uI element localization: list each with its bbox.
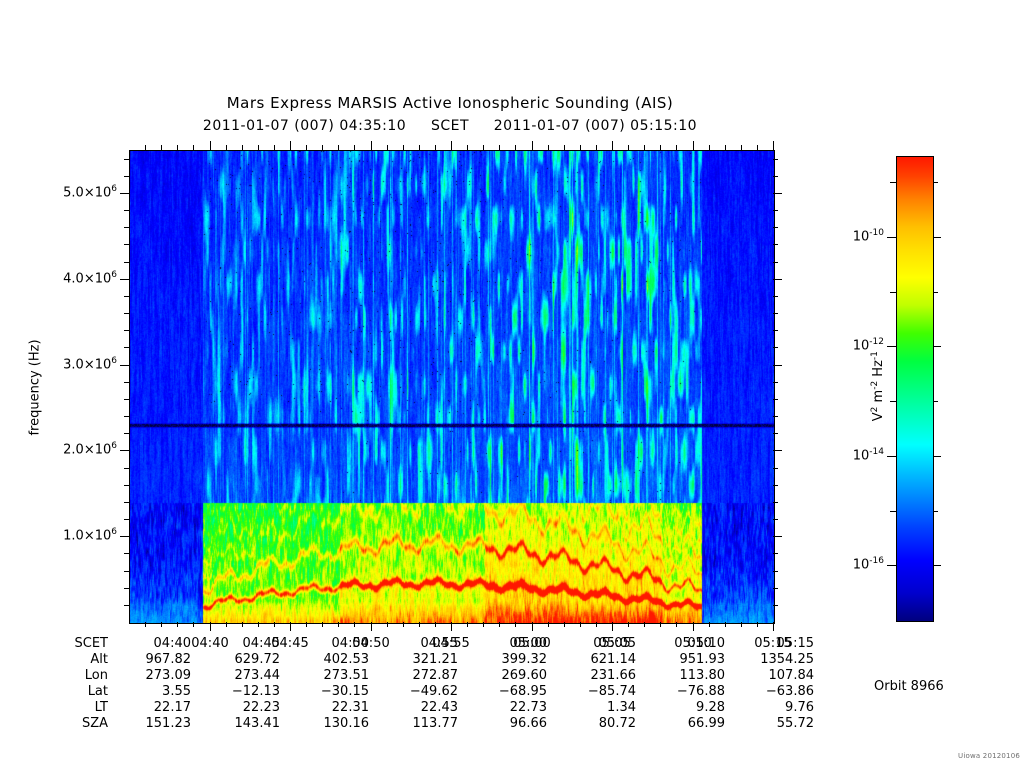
colorbar-major-tick (887, 456, 896, 457)
ephemeris-cell: 621.14 (557, 652, 646, 668)
orbit-label: Orbit 8966 (874, 679, 944, 694)
y-tick-label: 4.0×106 (7, 270, 117, 286)
y-tick-label: 5.0×106 (7, 184, 117, 200)
ephemeris-cell: 130.16 (290, 716, 379, 732)
y-major-tick (120, 365, 129, 366)
x-major-tick-top (693, 141, 694, 150)
ephemeris-cell: 80.72 (557, 716, 646, 732)
ephemeris-row-label: Alt (0, 652, 112, 668)
ephemeris-cell: 22.43 (379, 700, 468, 716)
colorbar-tick-label: 10-16 (794, 556, 884, 572)
y-major-tick (120, 279, 129, 280)
ephemeris-cell: −68.95 (468, 684, 557, 700)
ephemeris-cell: 04:45 (201, 636, 290, 652)
ephemeris-cell: 143.41 (201, 716, 290, 732)
y-major-tick (120, 193, 129, 194)
ephemeris-cell: −12.13 (201, 684, 290, 700)
ephemeris-row-label: Lat (0, 684, 112, 700)
ephemeris-cell: 04:50 (290, 636, 379, 652)
x-major-tick-top (290, 141, 291, 150)
ephemeris-row-label: SZA (0, 716, 112, 732)
ephemeris-cell: 05:05 (557, 636, 646, 652)
x-major-tick-top (773, 141, 774, 150)
ephemeris-cell: 231.66 (557, 668, 646, 684)
ephemeris-cell: 04:55 (379, 636, 468, 652)
ephemeris-cell: 321.21 (379, 652, 468, 668)
ephemeris-cell: 399.32 (468, 652, 557, 668)
y-axis-label: frequency (Hz) (28, 278, 43, 498)
x-major-tick-top (371, 141, 372, 150)
ephemeris-cell: 05:00 (468, 636, 557, 652)
page-title: Mars Express MARSIS Active Ionospheric S… (0, 94, 900, 112)
ephemeris-row: Lon273.09273.44273.51272.87269.60231.661… (0, 668, 824, 684)
ephemeris-row: Lat3.55−12.13−30.15−49.62−68.95−85.74−76… (0, 684, 824, 700)
ephemeris-cell: 107.84 (735, 668, 824, 684)
ephemeris-cell: 951.93 (646, 652, 735, 668)
ephemeris-cell: 269.60 (468, 668, 557, 684)
y-tick-label: 3.0×106 (7, 356, 117, 372)
y-major-tick (120, 536, 129, 537)
ephemeris-cell: 9.28 (646, 700, 735, 716)
ephemeris-cell: 1.34 (557, 700, 646, 716)
ephemeris-cell: −30.15 (290, 684, 379, 700)
x-major-tick-top (612, 141, 613, 150)
ephemeris-row: SZA151.23143.41130.16113.7796.6680.7266.… (0, 716, 824, 732)
colorbar-major-tick (887, 346, 896, 347)
y-major-tick (120, 450, 129, 451)
ephemeris-row: SCET04:4004:4504:5004:5505:0005:0505:100… (0, 636, 824, 652)
colorbar-gradient (897, 157, 933, 621)
colorbar[interactable] (896, 156, 934, 622)
colorbar-major-tick (887, 237, 896, 238)
watermark-label: Uiowa 20120106 (958, 752, 1020, 760)
spectrogram-image (130, 151, 774, 623)
ephemeris-row: LT22.1722.2322.3122.4322.731.349.289.76 (0, 700, 824, 716)
ephemeris-cell: 967.82 (112, 652, 201, 668)
ephemeris-cell: 113.77 (379, 716, 468, 732)
ephemeris-row-label: LT (0, 700, 112, 716)
ephemeris-cell: 04:40 (112, 636, 201, 652)
colorbar-major-tick (887, 565, 896, 566)
y-tick-label: 1.0×106 (7, 527, 117, 543)
ephemeris-cell: −63.86 (735, 684, 824, 700)
spectrogram-panel[interactable] (129, 150, 775, 624)
ephemeris-cell: 402.53 (290, 652, 379, 668)
colorbar-unit-label: V2 m-2 Hz-1 (870, 276, 886, 496)
ephemeris-row-label: SCET (0, 636, 112, 652)
ephemeris-cell: 05:10 (646, 636, 735, 652)
ephemeris-cell: 9.76 (735, 700, 824, 716)
ephemeris-row: Alt967.82629.72402.53321.21399.32621.149… (0, 652, 824, 668)
ephemeris-cell: 1354.25 (735, 652, 824, 668)
ephemeris-row-label: Lon (0, 668, 112, 684)
ephemeris-cell: 151.23 (112, 716, 201, 732)
ephemeris-cell: 3.55 (112, 684, 201, 700)
x-major-tick-top (532, 141, 533, 150)
ephemeris-table: SCET04:4004:4504:5004:5505:0005:0505:100… (0, 636, 824, 732)
ephemeris-cell: 273.09 (112, 668, 201, 684)
ephemeris-cell: 272.87 (379, 668, 468, 684)
ephemeris-cell: 22.73 (468, 700, 557, 716)
colorbar-tick-label: 10-10 (794, 228, 884, 244)
ephemeris-cell: −49.62 (379, 684, 468, 700)
page-subtitle: 2011-01-07 (007) 04:35:10 SCET 2011-01-0… (0, 118, 900, 134)
ephemeris-cell: 05:15 (735, 636, 824, 652)
ephemeris-cell: 22.17 (112, 700, 201, 716)
ephemeris-cell: 113.80 (646, 668, 735, 684)
ephemeris-cell: 629.72 (201, 652, 290, 668)
ephemeris-cell: 273.44 (201, 668, 290, 684)
x-major-tick-top (451, 141, 452, 150)
ephemeris-cell: 22.31 (290, 700, 379, 716)
y-tick-label: 2.0×106 (7, 441, 117, 457)
ephemeris-cell: 96.66 (468, 716, 557, 732)
ephemeris-cell: 66.99 (646, 716, 735, 732)
x-major-tick-top (210, 141, 211, 150)
ephemeris-cell: 22.23 (201, 700, 290, 716)
ephemeris-cell: −85.74 (557, 684, 646, 700)
ephemeris-cell: 273.51 (290, 668, 379, 684)
ephemeris-cell: 55.72 (735, 716, 824, 732)
ephemeris-cell: −76.88 (646, 684, 735, 700)
